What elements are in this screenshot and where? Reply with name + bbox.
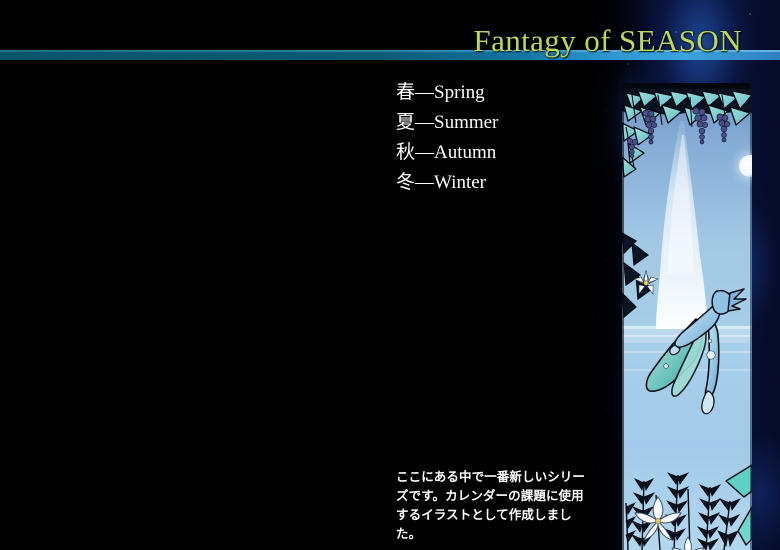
list-item-autumn: 秋—Autumn xyxy=(396,138,498,168)
fantasy-season-illustration xyxy=(622,83,752,550)
list-item-spring: 春—Spring xyxy=(396,78,498,108)
season-list: 春—Spring 夏—Summer 秋—Autumn 冬—Winter xyxy=(396,78,498,198)
page-root: Fantagy of SEASON 春—Spring 夏—Summer 秋—Au… xyxy=(0,0,780,550)
page-title: Fantagy of SEASON xyxy=(0,23,742,59)
list-item-winter: 冬—Winter xyxy=(396,168,498,198)
illustration-artwork xyxy=(622,83,752,550)
list-item-summer: 夏—Summer xyxy=(396,108,498,138)
caption-text: ここにある中で一番新しいシリーズです。カレンダーの課題に使用するイラストとして作… xyxy=(396,467,594,543)
